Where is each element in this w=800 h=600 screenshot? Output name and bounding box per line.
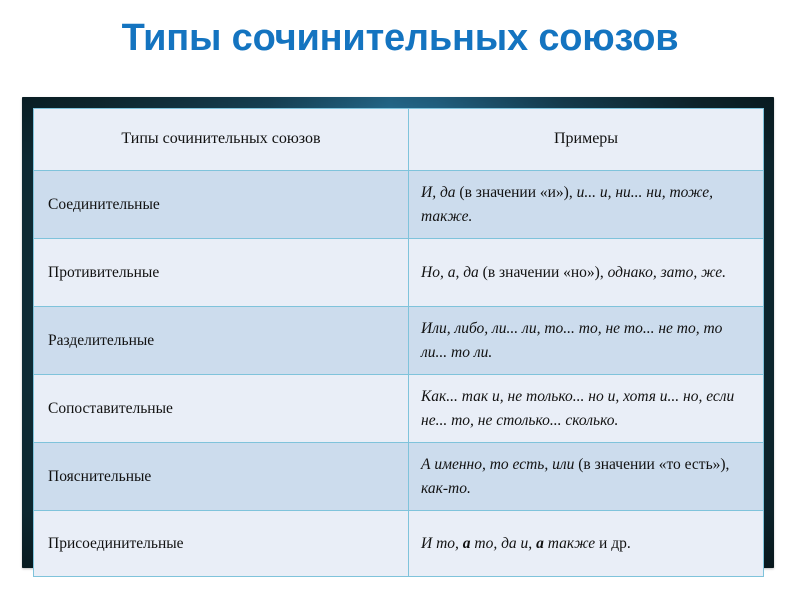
example-text-run: Или, либо, ли... ли, то... то, не то... … [421, 320, 722, 361]
example-text-run: (в значении «то есть»), [578, 456, 729, 473]
table-row: Сопоставительные Как... так и, не только… [34, 375, 764, 443]
page-title: Типы сочинительных союзов [0, 14, 800, 62]
example-text-run: и др. [599, 535, 631, 552]
cell-type: Присоединительные [34, 511, 409, 577]
example-text-run: как-то. [421, 480, 471, 497]
cell-example: И то, а то, да и, а также и др. [409, 511, 764, 577]
cell-type: Сопоставительные [34, 375, 409, 443]
table-row: Пояснительные А именно, то есть, или (в … [34, 443, 764, 511]
cell-type: Соединительные [34, 171, 409, 239]
cell-example: Но, а, да (в значении «но»), однако, зат… [409, 239, 764, 307]
table-row: Противительные Но, а, да (в значении «но… [34, 239, 764, 307]
example-text-run: а [536, 535, 544, 552]
example-text-run: (в значении «и»), [459, 184, 576, 201]
table-row: Соединительные И, да (в значении «и»), и… [34, 171, 764, 239]
cell-example: Как... так и, не только... но и, хотя и.… [409, 375, 764, 443]
example-text-run: однако, зато, же. [608, 264, 726, 281]
table-body: Соединительные И, да (в значении «и»), и… [34, 171, 764, 577]
table-header-row: Типы сочинительных союзов Примеры [34, 109, 764, 171]
cell-type: Пояснительные [34, 443, 409, 511]
slide-root: Типы сочинительных союзов Типы сочинител… [0, 0, 800, 600]
example-text-run: И то, [421, 535, 463, 552]
cell-example: И, да (в значении «и»), и... и, ни... ни… [409, 171, 764, 239]
example-text-run: Но, а, да [421, 264, 483, 281]
column-header-examples: Примеры [409, 109, 764, 171]
conjunction-types-table: Типы сочинительных союзов Примеры Соедин… [33, 108, 764, 577]
example-text-run: (в значении «но»), [483, 264, 608, 281]
cell-example: Или, либо, ли... ли, то... то, не то... … [409, 307, 764, 375]
cell-type: Противительные [34, 239, 409, 307]
cell-type: Разделительные [34, 307, 409, 375]
example-text-run: Как... так и, не только... но и, хотя и.… [421, 388, 734, 429]
table-row: Разделительные Или, либо, ли... ли, то..… [34, 307, 764, 375]
example-text-run: да [440, 184, 459, 201]
example-text-run: И, [421, 184, 440, 201]
table-header: Типы сочинительных союзов Примеры [34, 109, 764, 171]
cell-example: А именно, то есть, или (в значении «то е… [409, 443, 764, 511]
example-text-run: то, да и, [471, 535, 537, 552]
table-row: Присоединительные И то, а то, да и, а та… [34, 511, 764, 577]
example-text-run: а [463, 535, 471, 552]
table-frame: Типы сочинительных союзов Примеры Соедин… [22, 97, 774, 568]
example-text-run: также [544, 535, 599, 552]
column-header-type: Типы сочинительных союзов [34, 109, 409, 171]
example-text-run: А именно, то есть, или [421, 456, 578, 473]
